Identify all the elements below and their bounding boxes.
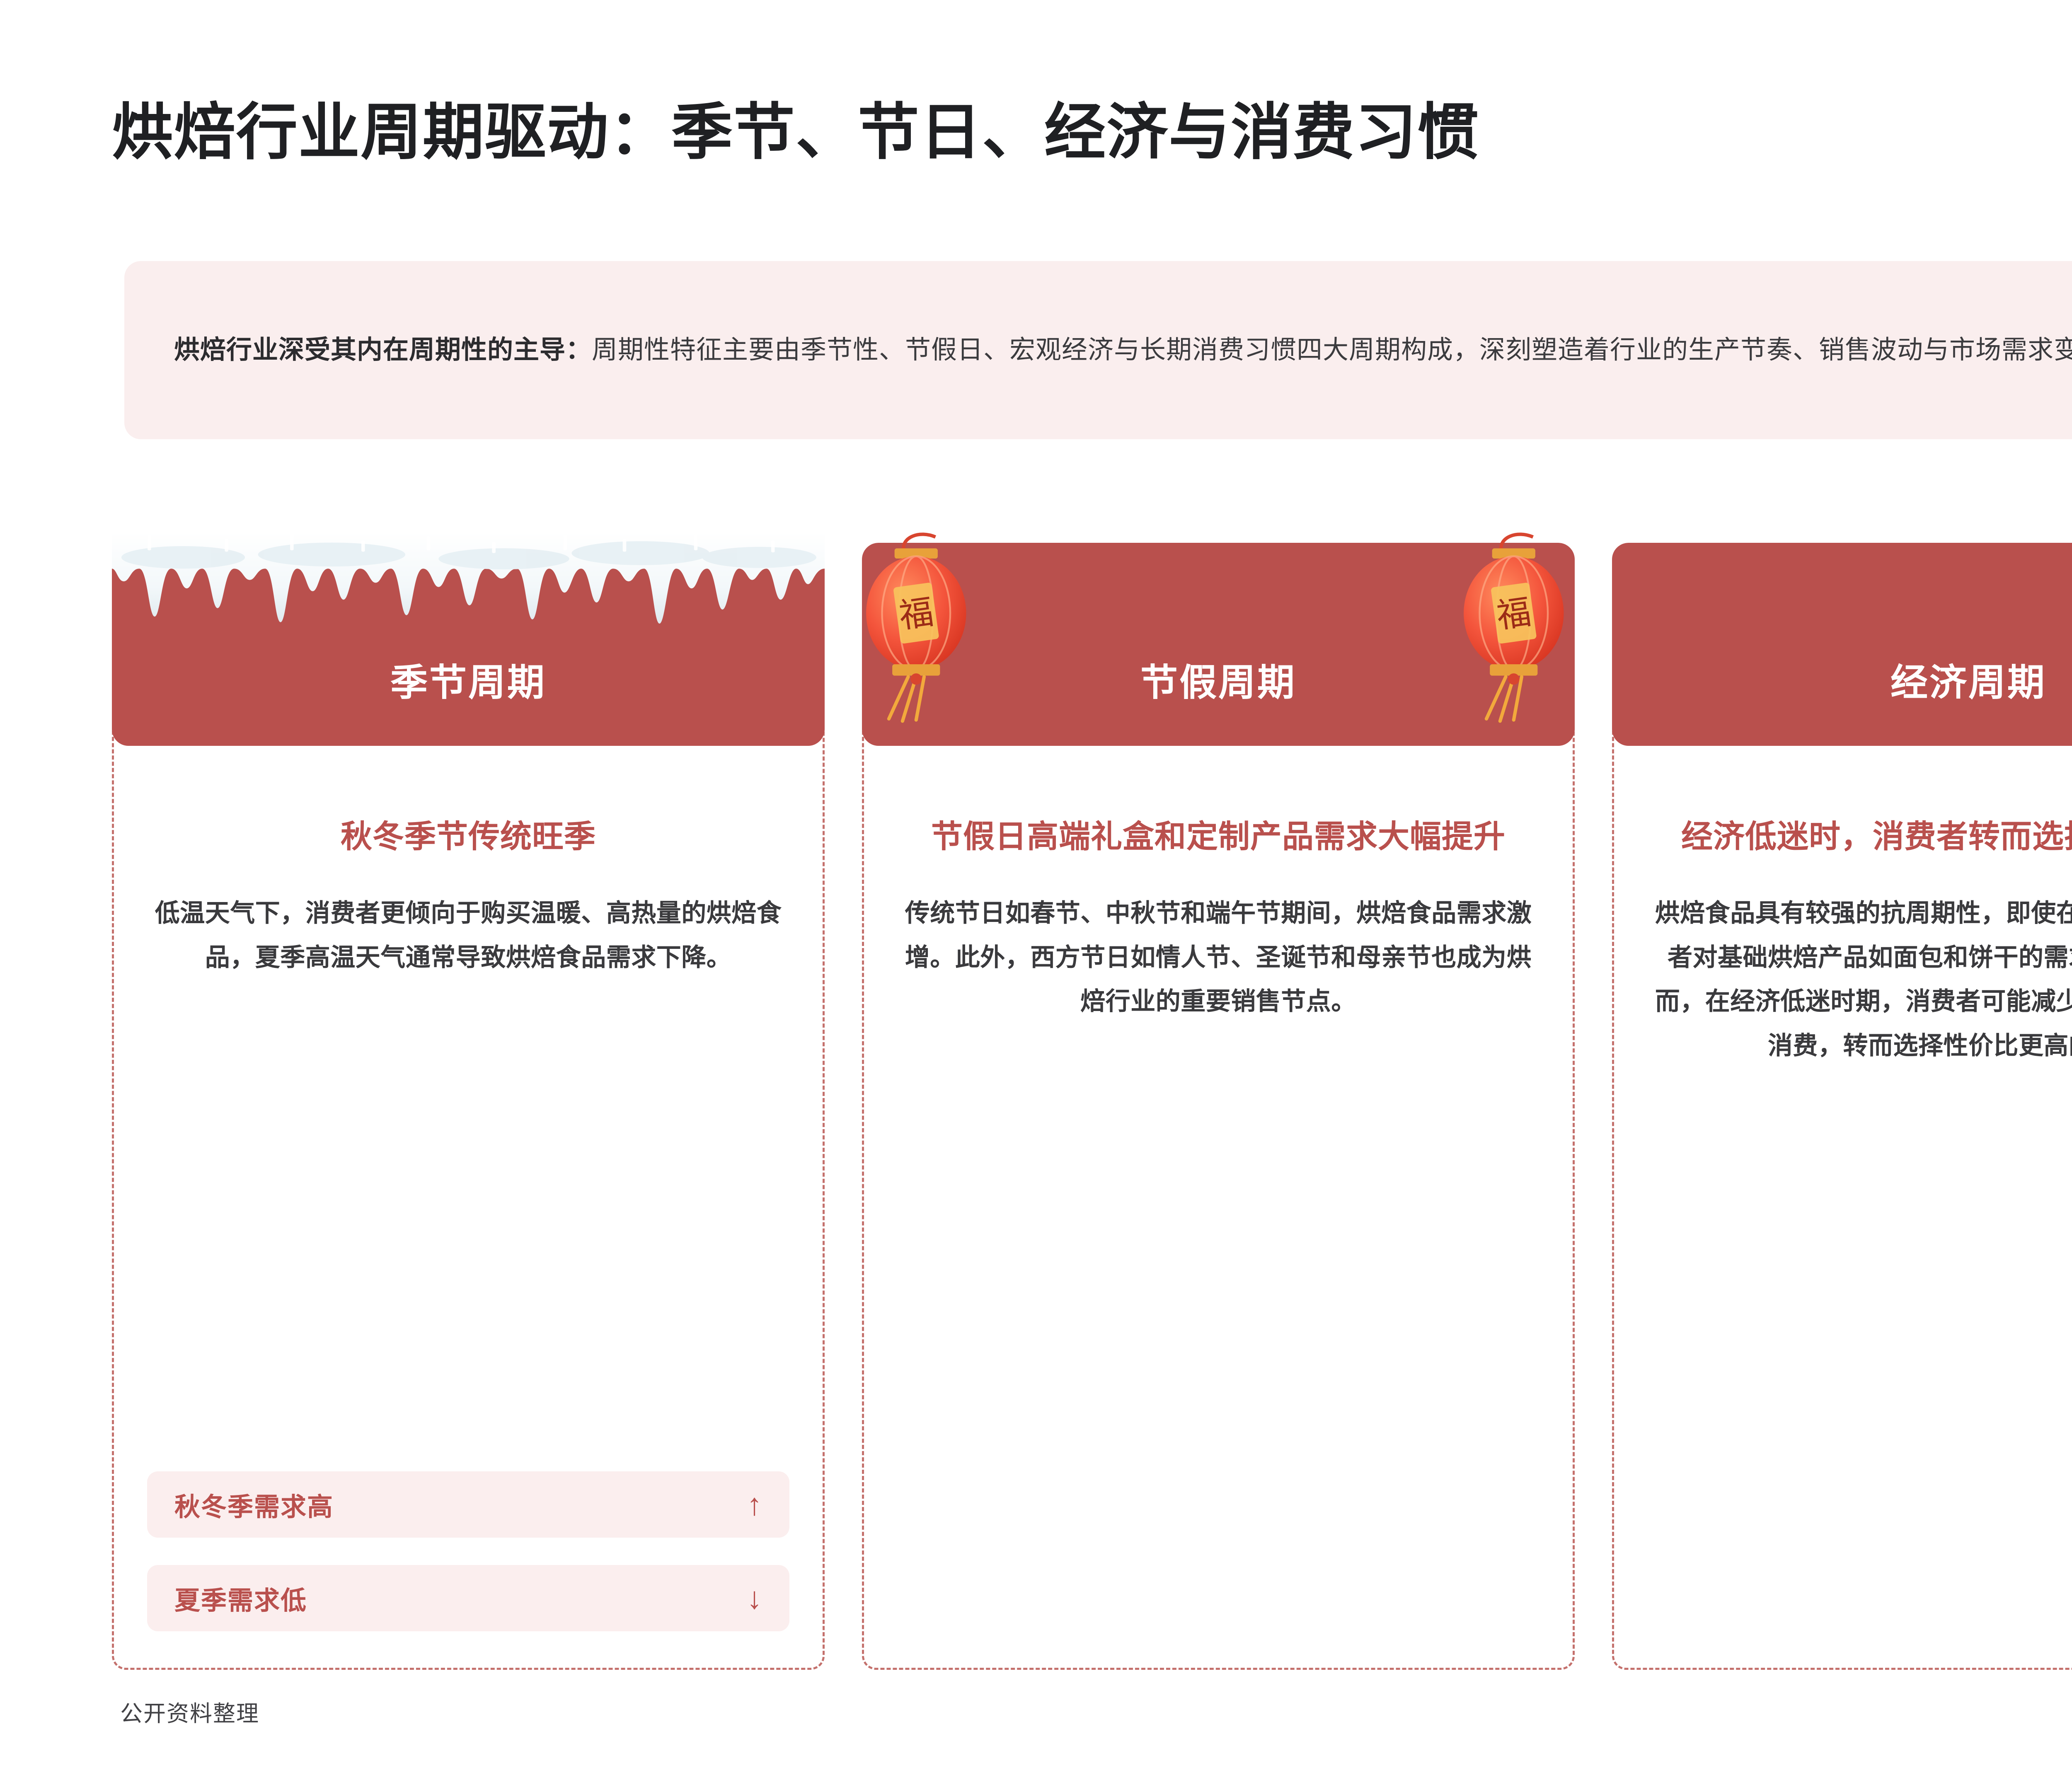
svg-text:福: 福 bbox=[897, 593, 936, 636]
card-body-economic: 经济低迷时，消费者转而选择性价比产品 烘焙食品具有较强的抗周期性，即使在经济下行… bbox=[1612, 728, 2072, 1670]
card-body-holiday: 节假日高端礼盒和定制产品需求大幅提升 传统节日如春节、中秋节和端午节期间，烘焙食… bbox=[862, 728, 1575, 1670]
snow-icicle-icon bbox=[112, 532, 825, 673]
card-heading-holiday: 节假日高端礼盒和定制产品需求大幅提升 bbox=[931, 815, 1506, 859]
pill-label-high-demand: 秋冬季需求高 bbox=[174, 1486, 334, 1523]
pill-high-demand[interactable]: 秋冬季需求高 ↑ bbox=[147, 1471, 789, 1538]
page-title: 烘焙行业周期驱动：季节、节日、经济与消费习惯 bbox=[112, 102, 1479, 163]
card-heading-economic: 经济低迷时，消费者转而选择性价比产品 bbox=[1681, 815, 2072, 859]
card-title-economic: 经济周期 bbox=[1890, 652, 2046, 706]
card-header-holiday: 福 bbox=[862, 543, 1575, 746]
card-body-seasonal: 秋冬季节传统旺季 低温天气下，消费者更倾向于购买温暖、高热量的烘焙食品，夏季高温… bbox=[112, 728, 825, 1670]
card-title-holiday: 节假周期 bbox=[1140, 652, 1296, 706]
arrow-up-icon: ↑ bbox=[747, 1489, 762, 1520]
cycle-card-economic[interactable]: 经济周期 经济低迷时，消费者转而选择性价比产品 烘焙食品具有较强的抗周期性，即使… bbox=[1612, 543, 2072, 1670]
pill-label-low-demand: 夏季需求低 bbox=[174, 1580, 307, 1617]
card-pills-seasonal: 秋冬季需求高 ↑ 夏季需求低 ↓ bbox=[147, 1434, 789, 1639]
chinese-lantern-icon-right: 福 bbox=[1449, 528, 1585, 727]
pill-low-demand[interactable]: 夏季需求低 ↓ bbox=[147, 1565, 789, 1631]
cycle-card-holiday[interactable]: 福 bbox=[862, 543, 1575, 1670]
svg-text:福: 福 bbox=[1494, 593, 1534, 636]
intro-banner: 烘焙行业深受其内在周期性的主导：周期性特征主要由季节性、节假日、宏观经济与长期消… bbox=[124, 261, 2072, 439]
card-text-holiday: 传统节日如春节、中秋节和端午节期间，烘焙食品需求激增。此外，西方节日如情人节、圣… bbox=[897, 891, 1539, 1024]
card-header-seasonal: 季节周期 bbox=[112, 543, 825, 746]
cycle-cards-row: 季节周期 秋冬季节传统旺季 低温天气下，消费者更倾向于购买温暖、高热量的烘焙食品… bbox=[112, 543, 2072, 1670]
intro-body: 周期性特征主要由季节性、节假日、宏观经济与长期消费习惯四大周期构成，深刻塑造着行… bbox=[592, 336, 2072, 364]
card-header-economic: 经济周期 bbox=[1612, 543, 2072, 746]
arrow-down-icon: ↓ bbox=[747, 1583, 762, 1613]
page-header: 烘焙行业周期驱动：季节、节日、经济与消费习惯 mohodata 梅花数据 bbox=[112, 70, 2072, 195]
card-text-economic: 烘焙食品具有较强的抗周期性，即使在经济下行期，消费者对基础烘焙产品如面包和饼干的… bbox=[1647, 891, 2072, 1068]
card-text-seasonal: 低温天气下，消费者更倾向于购买温暖、高热量的烘焙食品，夏季高温天气通常导致烘焙食… bbox=[147, 891, 789, 980]
source-note: 公开资料整理 bbox=[120, 1695, 259, 1728]
card-title-seasonal: 季节周期 bbox=[390, 652, 546, 706]
chinese-lantern-icon-left: 福 bbox=[851, 528, 988, 727]
intro-banner-text: 烘焙行业深受其内在周期性的主导：周期性特征主要由季节性、节假日、宏观经济与长期消… bbox=[174, 328, 2072, 373]
card-heading-seasonal: 秋冬季节传统旺季 bbox=[341, 815, 596, 859]
infographic-page: 烘焙行业周期驱动：季节、节日、经济与消费习惯 mohodata 梅花数据 烘焙行 bbox=[0, 0, 2072, 1790]
intro-lead: 烘焙行业深受其内在周期性的主导： bbox=[174, 336, 592, 364]
cycle-card-seasonal[interactable]: 季节周期 秋冬季节传统旺季 低温天气下，消费者更倾向于购买温暖、高热量的烘焙食品… bbox=[112, 543, 825, 1670]
